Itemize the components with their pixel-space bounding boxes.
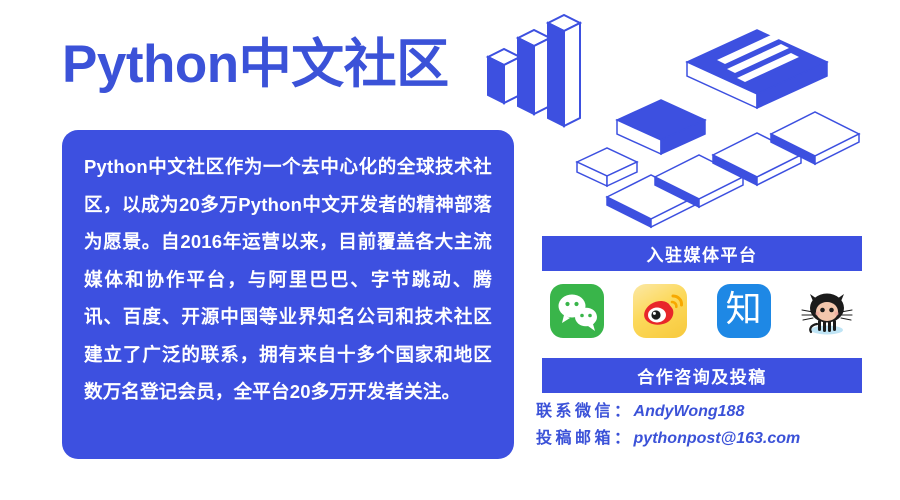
intro-paragraph: Python中文社区作为一个去中心化的全球技术社区，以成为20多万Python中…	[84, 148, 492, 411]
isometric-book-stack	[565, 12, 900, 230]
weibo-glyph	[633, 284, 687, 338]
intro-card: Python中文社区作为一个去中心化的全球技术社区，以成为20多万Python中…	[62, 130, 514, 459]
github-icon[interactable]	[800, 284, 854, 338]
poster-canvas: Python中文社区 Python中文社区作为一个去中心化的全球技术社区，以成为…	[0, 0, 900, 500]
book-stack-icon	[565, 12, 900, 230]
contact-wechat-line: 联系微信：AndyWong188	[536, 398, 886, 425]
contact-wechat-label: 联系微信：	[536, 403, 634, 420]
social-icon-row: 知	[542, 280, 862, 342]
octocat-glyph	[800, 284, 854, 338]
banner-cooperation: 合作咨询及投稿	[542, 358, 862, 393]
weibo-icon[interactable]	[633, 284, 687, 338]
zhihu-glyph: 知	[726, 292, 762, 328]
contact-block: 联系微信：AndyWong188 投稿邮箱：pythonpost@163.com	[536, 398, 886, 452]
banner-media-platforms: 入驻媒体平台	[542, 236, 862, 271]
page-title: Python中文社区	[62, 36, 449, 94]
contact-email-label: 投稿邮箱：	[536, 430, 634, 447]
wechat-glyph	[550, 284, 604, 338]
zhihu-icon[interactable]: 知	[717, 284, 771, 338]
contact-email-value: pythonpost@163.com	[634, 430, 801, 447]
contact-wechat-value: AndyWong188	[634, 403, 745, 420]
contact-email-line: 投稿邮箱：pythonpost@163.com	[536, 425, 886, 452]
wechat-icon[interactable]	[550, 284, 604, 338]
